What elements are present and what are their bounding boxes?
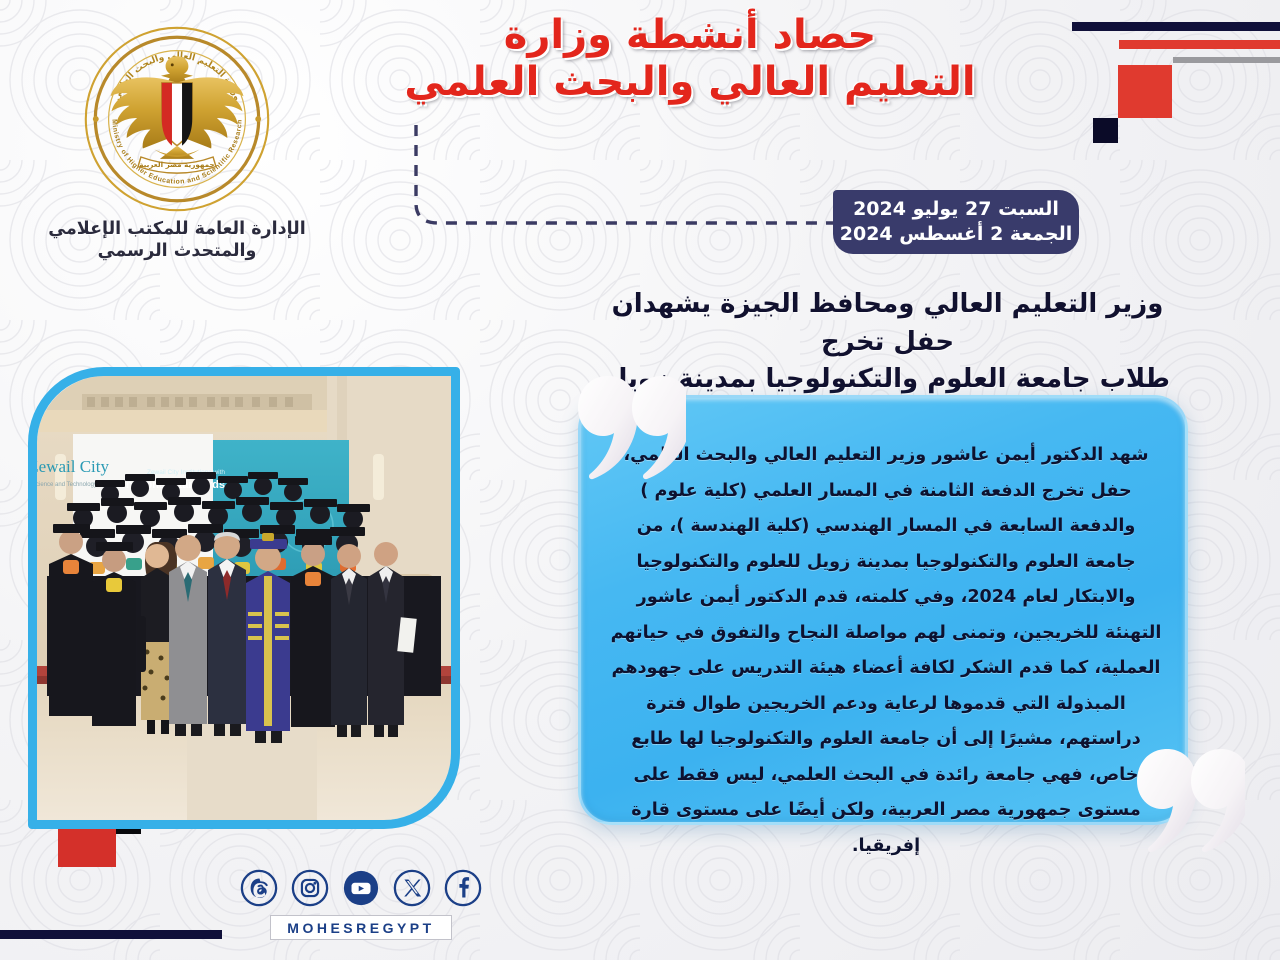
decor-top-red-bar <box>1119 40 1280 49</box>
social-icons-row <box>240 869 482 907</box>
facebook-icon[interactable] <box>444 869 482 907</box>
news-headline: وزير التعليم العالي ومحافظ الجيزة يشهدان… <box>590 286 1185 399</box>
headline-line-1: وزير التعليم العالي ومحافظ الجيزة يشهدان… <box>590 286 1185 361</box>
threads-icon[interactable] <box>240 869 278 907</box>
decor-top-gray-bar <box>1173 57 1280 63</box>
headline-line-2: طلاب جامعة العلوم والتكنولوجيا بمدينة زو… <box>590 361 1185 399</box>
decor-top-red-square <box>1118 65 1172 118</box>
date-badge: السبت 27 يوليو 2024 الجمعة 2 أغسطس 2024 <box>833 190 1079 254</box>
svg-text:جمهورية مصر العربية: جمهورية مصر العربية <box>139 160 214 169</box>
poster-canvas: وزارة التعليم العالي والبحث العلمي Minis… <box>0 0 1280 960</box>
decor-bottom-navy-bar <box>0 930 222 939</box>
youtube-icon[interactable] <box>342 869 380 907</box>
logo-caption-line1: الإدارة العامة للمكتب الإعلامي <box>48 218 306 240</box>
decor-top-navy-bar <box>1072 22 1280 31</box>
decor-top-navy-square <box>1093 118 1118 143</box>
logo-caption-line2: والمتحدث الرسمي <box>48 240 306 262</box>
date-line-1: السبت 27 يوليو 2024 <box>853 197 1059 222</box>
x-twitter-icon[interactable] <box>393 869 431 907</box>
title-line-2: التعليم العالي والبحث العلمي <box>360 59 1020 106</box>
quote-card: شهد الدكتور أيمن عاشور وزير التعليم العا… <box>578 395 1188 825</box>
quote-body-text: شهد الدكتور أيمن عاشور وزير التعليم العا… <box>609 438 1163 864</box>
social-handle: MOHESREGYPT <box>270 915 451 940</box>
social-media-bar: MOHESREGYPT <box>232 869 490 940</box>
title-line-1: حصاد أنشطة وزارة <box>360 12 1020 59</box>
instagram-icon[interactable] <box>291 869 329 907</box>
egypt-eagle-emblem-icon: وزارة التعليم العالي والبحث العلمي Minis… <box>82 24 272 214</box>
news-photo-border <box>28 367 460 829</box>
ministry-logo-block: وزارة التعليم العالي والبحث العلمي Minis… <box>48 24 306 263</box>
date-line-2: الجمعة 2 أغسطس 2024 <box>840 222 1073 247</box>
page-title: حصاد أنشطة وزارة التعليم العالي والبحث ا… <box>360 12 1020 106</box>
logo-caption: الإدارة العامة للمكتب الإعلامي والمتحدث … <box>48 218 306 263</box>
news-photo: Zewail City Science and Technology Park … <box>28 367 460 829</box>
dashed-connector-line <box>400 125 870 235</box>
